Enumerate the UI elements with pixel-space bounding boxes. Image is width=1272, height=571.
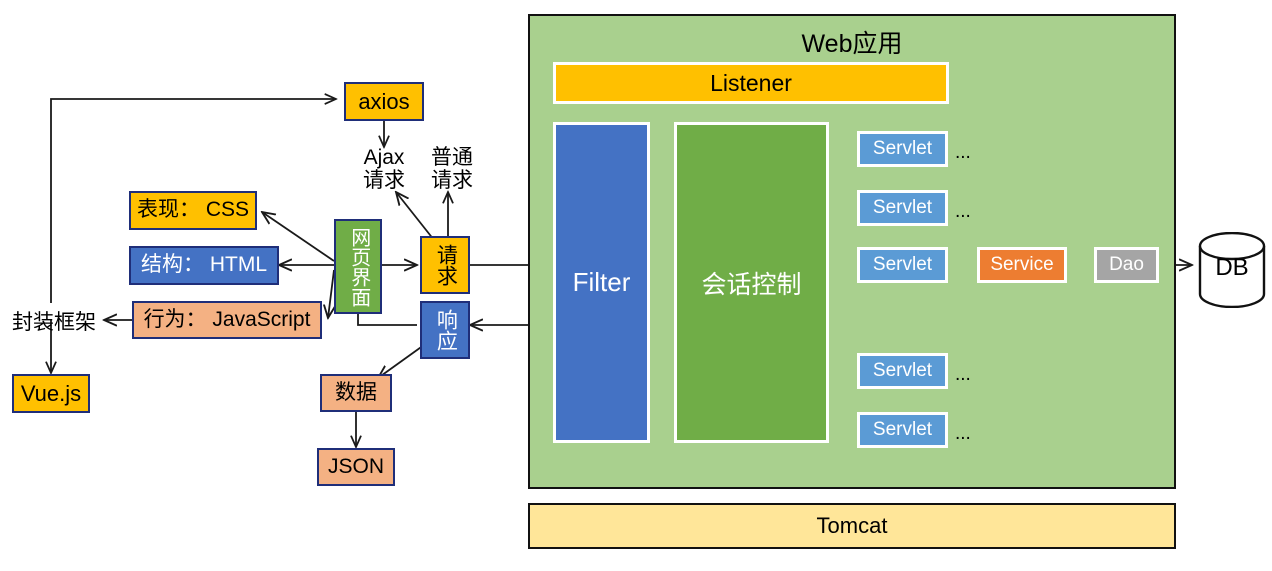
dao-box[interactable]: Dao <box>1094 247 1159 283</box>
servlet-label: Servlet <box>873 197 932 219</box>
request-label: 请求 <box>434 244 457 286</box>
servlet-box-3[interactable]: Servlet <box>857 247 948 283</box>
servlet-box-5[interactable]: Servlet <box>857 412 948 448</box>
servlet-label: Servlet <box>873 138 932 160</box>
webpage-ui-label: 网页界面 <box>347 227 369 307</box>
session-control-label: 会话控制 <box>701 265 801 301</box>
webapp-title: Web应用 <box>528 24 1176 60</box>
vuejs-box[interactable]: Vue.js <box>12 374 90 413</box>
behavior-javascript-box[interactable]: 行为： JavaScript <box>132 301 322 339</box>
framework-wrapper-label: 封装框架 <box>4 306 104 336</box>
tomcat-label: Tomcat <box>817 513 888 539</box>
dao-label: Dao <box>1109 254 1144 276</box>
servlet-label: Servlet <box>873 360 932 382</box>
listener-label: Listener <box>710 70 792 97</box>
ajax-request-label: Ajax 请求 <box>352 146 416 192</box>
structure-html-box[interactable]: 结构： HTML <box>129 246 279 285</box>
service-box[interactable]: Service <box>977 247 1067 283</box>
response-label: 响应 <box>434 309 457 351</box>
servlet-ellipsis-1: ... <box>955 142 971 164</box>
json-label: JSON <box>328 456 384 479</box>
filter-box[interactable]: Filter <box>553 122 650 443</box>
data-label: 数据 <box>335 382 377 405</box>
servlet-label: Servlet <box>873 419 932 441</box>
data-box[interactable]: 数据 <box>320 374 392 412</box>
diagram-canvas: axios Ajax 请求 普通 请求 表现： CSS 结构： HTML 行为：… <box>0 0 1272 571</box>
response-box[interactable]: 响应 <box>420 301 470 359</box>
servlet-box-4[interactable]: Servlet <box>857 353 948 389</box>
webpage-ui-box[interactable]: 网页界面 <box>334 219 382 314</box>
listener-box[interactable]: Listener <box>553 62 949 104</box>
tomcat-box[interactable]: Tomcat <box>528 503 1176 549</box>
axios-box[interactable]: axios <box>344 82 424 121</box>
normal-request-label: 普通 请求 <box>420 146 484 192</box>
presentation-css-label: 表现： CSS <box>137 199 249 222</box>
servlet-box-1[interactable]: Servlet <box>857 131 948 167</box>
filter-label: Filter <box>573 267 631 298</box>
servlet-ellipsis-4: ... <box>955 364 971 386</box>
structure-html-label: 结构： HTML <box>141 254 267 277</box>
servlet-ellipsis-5: ... <box>955 423 971 445</box>
axios-label: axios <box>358 90 409 114</box>
servlet-ellipsis-2: ... <box>955 201 971 223</box>
presentation-css-box[interactable]: 表现： CSS <box>129 191 257 230</box>
vuejs-label: Vue.js <box>21 382 81 406</box>
servlet-label: Servlet <box>873 254 932 276</box>
service-label: Service <box>990 254 1053 276</box>
request-box[interactable]: 请求 <box>420 236 470 294</box>
db-label: DB <box>1196 254 1268 282</box>
json-box[interactable]: JSON <box>317 448 395 486</box>
session-control-box[interactable]: 会话控制 <box>674 122 829 443</box>
behavior-javascript-label: 行为： JavaScript <box>144 309 311 332</box>
servlet-box-2[interactable]: Servlet <box>857 190 948 226</box>
